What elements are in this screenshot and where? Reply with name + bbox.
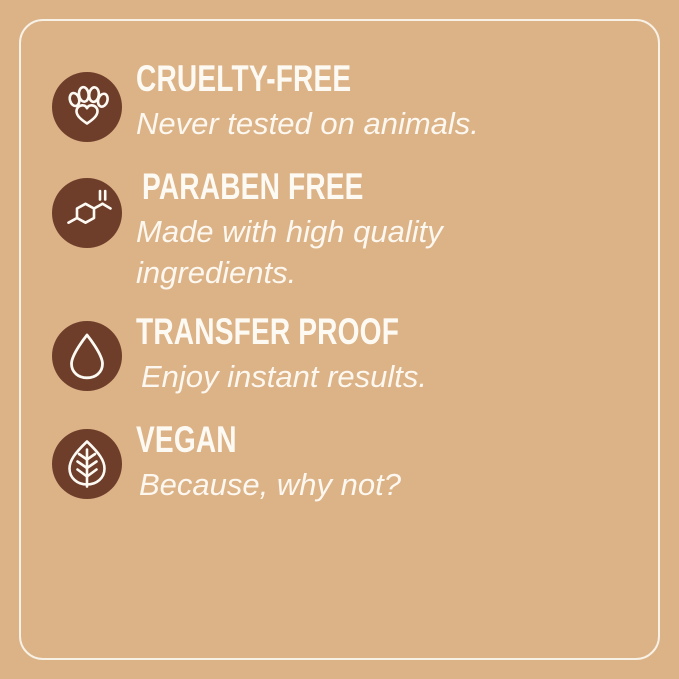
molecule-icon (52, 178, 122, 248)
feature-item-transfer-proof: TRANSFER PROOF Enjoy instant results. (52, 311, 649, 397)
water-droplet-icon (52, 321, 122, 391)
feature-item-vegan: VEGAN Because, why not? (52, 419, 649, 505)
leaf-icon (52, 429, 122, 499)
feature-list: CRUELTY-FREE Never tested on animals. (0, 0, 679, 679)
product-benefits-poster: CRUELTY-FREE Never tested on animals. (0, 0, 679, 679)
feature-title: CRUELTY-FREE (136, 60, 397, 97)
feature-title: PARABEN FREE (142, 168, 441, 205)
feature-description: Made with high quality ingredients. (136, 212, 536, 293)
feature-title: VEGAN (136, 421, 337, 458)
feature-description: Because, why not? (139, 465, 401, 505)
feature-text-block: VEGAN Because, why not? (136, 419, 401, 505)
feature-text-block: PARABEN FREE Made with high quality ingr… (136, 166, 536, 293)
feature-title: TRANSFER PROOF (136, 313, 399, 350)
feature-item-cruelty-free: CRUELTY-FREE Never tested on animals. (52, 58, 649, 144)
feature-text-block: TRANSFER PROOF Enjoy instant results. (136, 311, 482, 397)
feature-description: Never tested on animals. (136, 104, 479, 144)
feature-description: Enjoy instant results. (141, 357, 482, 397)
feature-text-block: CRUELTY-FREE Never tested on animals. (136, 58, 479, 144)
feature-item-paraben-free: PARABEN FREE Made with high quality ingr… (52, 166, 649, 293)
paw-print-icon (52, 72, 122, 142)
